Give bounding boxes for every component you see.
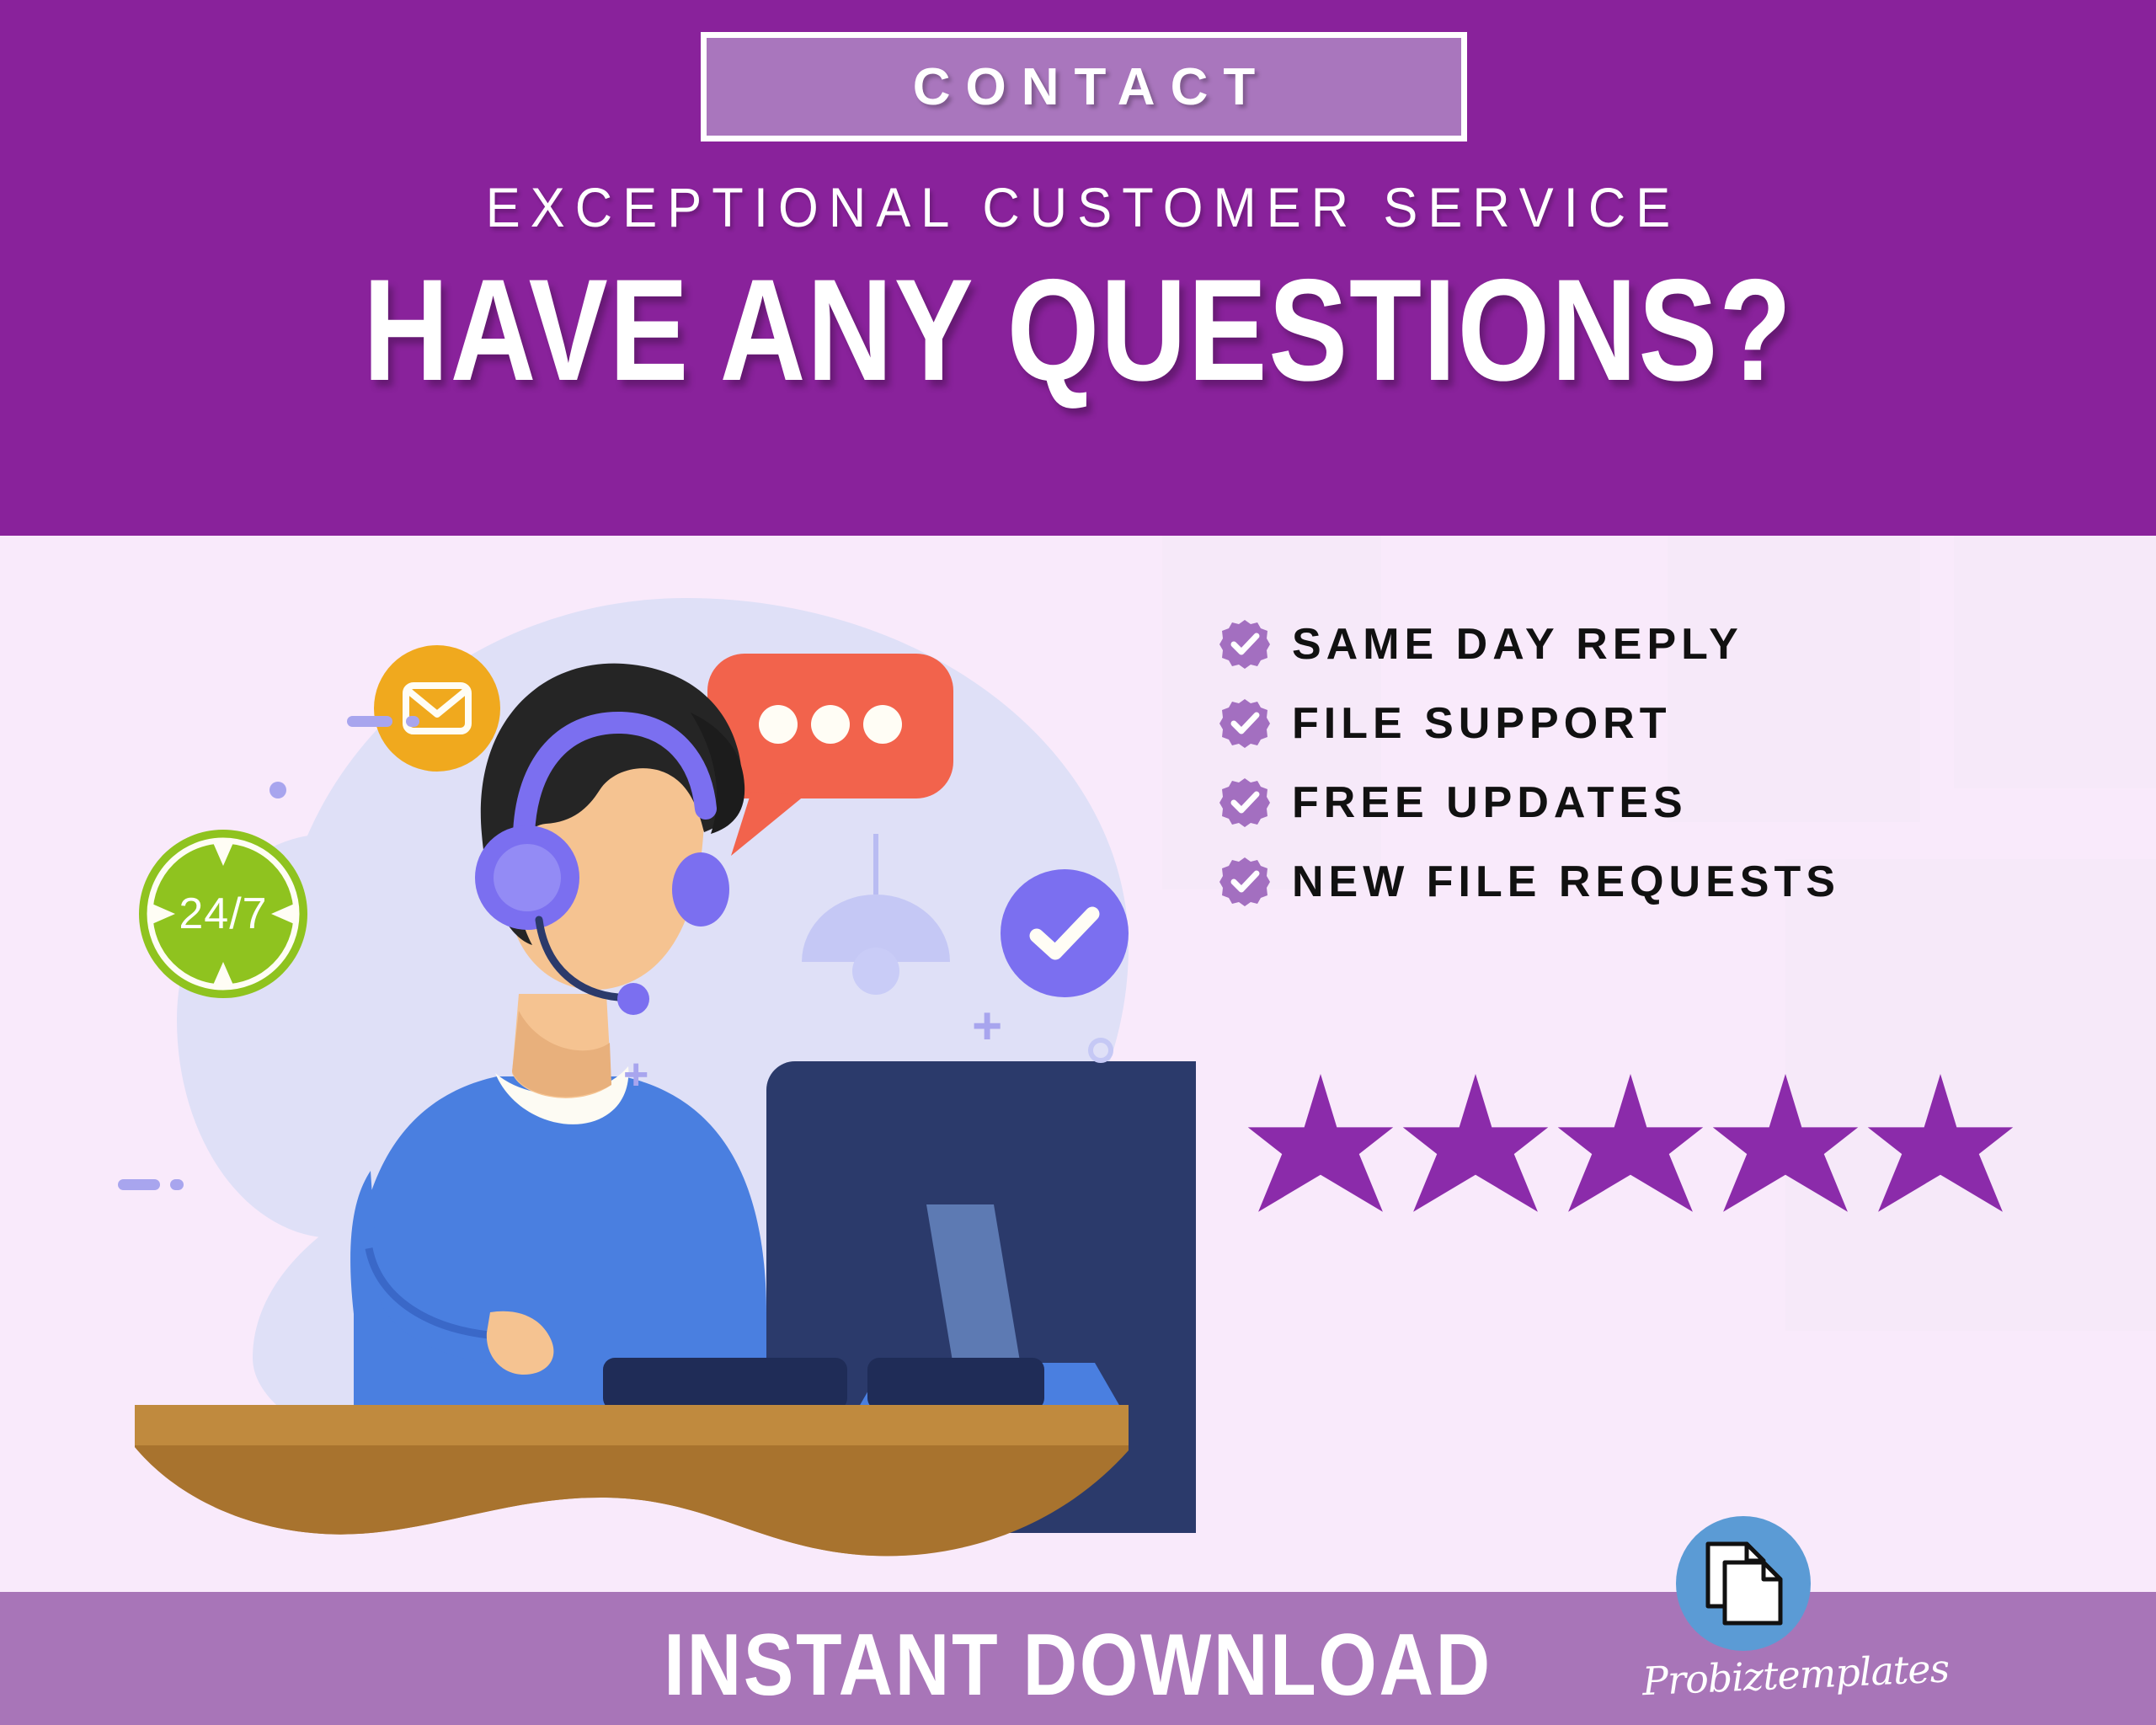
- decorative-dot-1: [269, 782, 286, 798]
- feature-label: FILE SUPPORT: [1292, 698, 1671, 749]
- star-icon: [1556, 1068, 1705, 1216]
- page-title: HAVE ANY QUESTIONS?: [194, 258, 1961, 403]
- header-subtitle: EXCEPTIONAL CUSTOMER SERVICE: [76, 175, 2081, 239]
- decorative-dash-2: [406, 716, 419, 727]
- star-icon: [1711, 1068, 1860, 1216]
- decorative-dash-1: [347, 716, 392, 727]
- brand-logo: Probiztemplates: [1642, 1516, 1844, 1725]
- contact-badge-label: CONTACT: [898, 57, 1270, 117]
- list-item: FILE SUPPORT: [1219, 684, 2079, 763]
- check-badge-icon: [1219, 777, 1270, 828]
- check-badge-icon: [1219, 619, 1270, 670]
- list-item: NEW FILE REQUESTS: [1219, 842, 2079, 921]
- decorative-plus-2: +: [623, 1053, 648, 1097]
- check-badge-icon: [1219, 698, 1270, 749]
- contact-badge: CONTACT: [701, 32, 1467, 142]
- list-item: FREE UPDATES: [1219, 763, 2079, 842]
- desk-surface: [135, 1398, 1129, 1567]
- decorative-ring-1: [1088, 1038, 1113, 1063]
- decorative-dash-4: [170, 1179, 184, 1190]
- list-item: SAME DAY REPLY: [1219, 605, 2079, 684]
- star-icon: [1401, 1068, 1550, 1216]
- brand-name: Probiztemplates: [1641, 1650, 1845, 1704]
- poster-canvas: CONTACT EXCEPTIONAL CUSTOMER SERVICE HAV…: [0, 0, 2156, 1725]
- decorative-dash-3: [118, 1179, 160, 1190]
- feature-label: SAME DAY REPLY: [1292, 619, 1743, 670]
- support-illustration: 24/7: [101, 556, 1196, 1592]
- feature-label: FREE UPDATES: [1292, 777, 1688, 828]
- documents-icon: [1676, 1516, 1811, 1651]
- star-icon: [1246, 1068, 1395, 1216]
- check-badge-icon: [1219, 857, 1270, 907]
- feature-label: NEW FILE REQUESTS: [1292, 857, 1840, 907]
- star-icon: [1866, 1068, 2015, 1216]
- decorative-plus-1: +: [972, 1001, 1002, 1053]
- feature-list: SAME DAY REPLY FILE SUPPORT FREE UPDATES: [1219, 605, 2079, 921]
- star-rating: [1246, 1068, 2015, 1216]
